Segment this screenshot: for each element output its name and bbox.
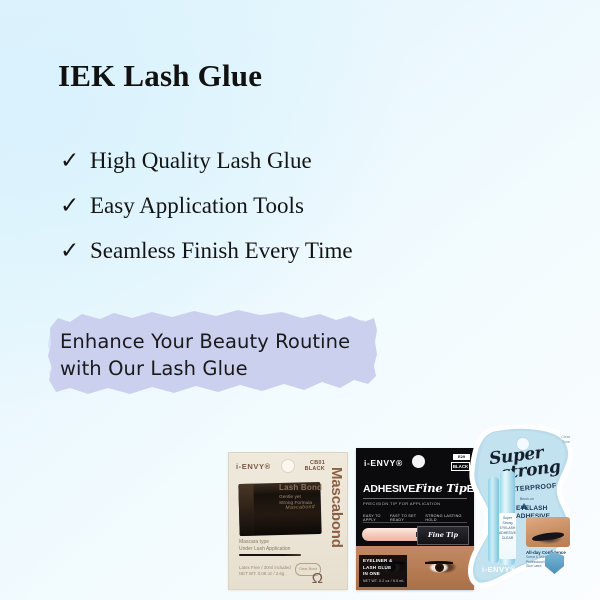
adhesive-tube-graphic — [488, 477, 499, 563]
lash-strip-graphic — [532, 531, 565, 542]
product-pack-fine-tip-eyeliner: i-ENVY® E29 BLACK ADHESIVEFine TipEYELIN… — [356, 448, 474, 590]
product-brand-label: i-ENVY® — [482, 565, 516, 574]
product-image-strip: i-ENVY® CB01 BLACK Mascabond Mascabond L… — [0, 415, 600, 590]
product-footer-text: Latex Free / 30ml included NET WT. 0.08 … — [239, 565, 291, 577]
check-icon: ✓ — [60, 150, 90, 173]
tube-cap-graphic — [238, 484, 254, 536]
list-item-label: Easy Application Tools — [90, 193, 304, 219]
product-pack-super-strong: Clear Tone Super strong WATERPROOF Super… — [468, 425, 576, 590]
product-feature-row: EASY TO APPLY FAST TO SET READY STRONG L… — [363, 514, 467, 522]
poster-canvas: IEK Lash Glue ✓ High Quality Lash Glue ✓… — [0, 0, 600, 600]
hang-hole-icon — [412, 455, 425, 468]
tube-label-text: Super Strong EYELASH ADHESIVE CLEAR — [499, 513, 516, 559]
product-title: ADHESIVEFine TipEYELINER — [363, 481, 474, 495]
tagline-block: Enhance Your Beauty Routine with Our Las… — [48, 306, 378, 398]
eye-graphic — [424, 560, 454, 575]
brush-on-label: Brush-on — [520, 497, 534, 501]
product-brand-label: i-ENVY® — [364, 458, 403, 468]
list-item-label: Seamless Finish Every Time — [90, 238, 353, 264]
omega-icon: Ω — [312, 571, 323, 586]
product-badge: Fine Tip — [417, 526, 469, 545]
applicator-wand-graphic — [239, 554, 301, 556]
model-eyes-photo: EYELINER & LASH GLUE IN ONE NET WT. 0.2 … — [356, 546, 474, 590]
tagline-text: Enhance Your Beauty Routine with Our Las… — [60, 328, 350, 382]
feature-list: ✓ High Quality Lash Glue ✓ Easy Applicat… — [60, 148, 480, 283]
check-icon: ✓ — [60, 195, 90, 218]
product-tagline-box: EYELINER & LASH GLUE IN ONE NET WT. 0.2 … — [359, 555, 407, 587]
list-item: ✓ Easy Application Tools — [60, 193, 480, 238]
product-description: Mascara type Under Lash Application — [239, 539, 290, 553]
product-shade-note: Clear Tone — [561, 435, 570, 445]
list-item-label: High Quality Lash Glue — [90, 148, 312, 174]
check-icon: ✓ — [60, 240, 90, 263]
product-name-vertical: Mascabond — [325, 467, 345, 585]
product-title: Lash Bond — [279, 483, 322, 492]
list-item: ✓ High Quality Lash Glue — [60, 148, 480, 193]
lash-photo — [526, 517, 570, 547]
product-brand-label: i-ENVY® — [236, 462, 271, 471]
list-item: ✓ Seamless Finish Every Time — [60, 238, 480, 283]
divider — [363, 498, 467, 499]
product-precision-note: PRECISION TIP FOR APPLICATION — [363, 501, 440, 506]
page-title: IEK Lash Glue — [58, 58, 262, 94]
hang-hole-icon — [281, 459, 295, 473]
product-pack-mascabond: i-ENVY® CB01 BLACK Mascabond Mascabond L… — [228, 452, 348, 590]
eyeliner-pen-graphic — [362, 528, 424, 541]
divider — [363, 522, 467, 523]
iris-graphic — [435, 563, 444, 572]
product-subtitle: Gentle yet Strong Formula — [279, 495, 312, 508]
product-code-label: CB01 BLACK — [305, 460, 325, 472]
